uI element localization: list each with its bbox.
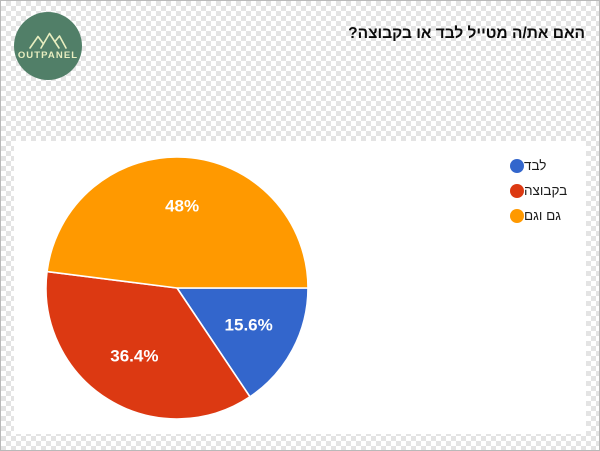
pie-slice[interactable] [47, 157, 308, 288]
pie-chart: 15.6%36.4%48% [34, 146, 320, 430]
legend-item[interactable]: בקבוצה [510, 178, 586, 203]
legend-item-label: בקבוצה [524, 183, 567, 198]
pie-slice-label: 48% [165, 196, 199, 215]
legend-item-label: לבד [524, 158, 546, 173]
circle-swatch-red-icon [510, 184, 524, 198]
legend-item-label: גם וגם [524, 208, 561, 223]
legend-item[interactable]: גם וגם [510, 203, 586, 228]
pie-chart-svg: 15.6%36.4%48% [34, 146, 320, 430]
screenshot-canvas: OUTPANEL האם את/ה מטייל לבד או בקבוצה? 1… [0, 0, 600, 451]
legend-item[interactable]: לבד [510, 153, 586, 178]
pie-slice-label: 36.4% [110, 347, 158, 366]
outpanel-logo[interactable]: OUTPANEL [14, 12, 82, 80]
logo-wordmark: OUTPANEL [18, 51, 78, 61]
circle-swatch-orange-icon [510, 209, 524, 223]
circle-swatch-blue-icon [510, 159, 524, 173]
pie-slice-label: 15.6% [225, 316, 273, 335]
chart-title: האם את/ה מטייל לבד או בקבוצה? [348, 25, 585, 43]
chart-panel: 15.6%36.4%48% לבדבקבוצהגם וגם [14, 141, 586, 434]
mountain-icon [28, 31, 68, 50]
chart-legend: לבדבקבוצהגם וגם [510, 153, 586, 228]
